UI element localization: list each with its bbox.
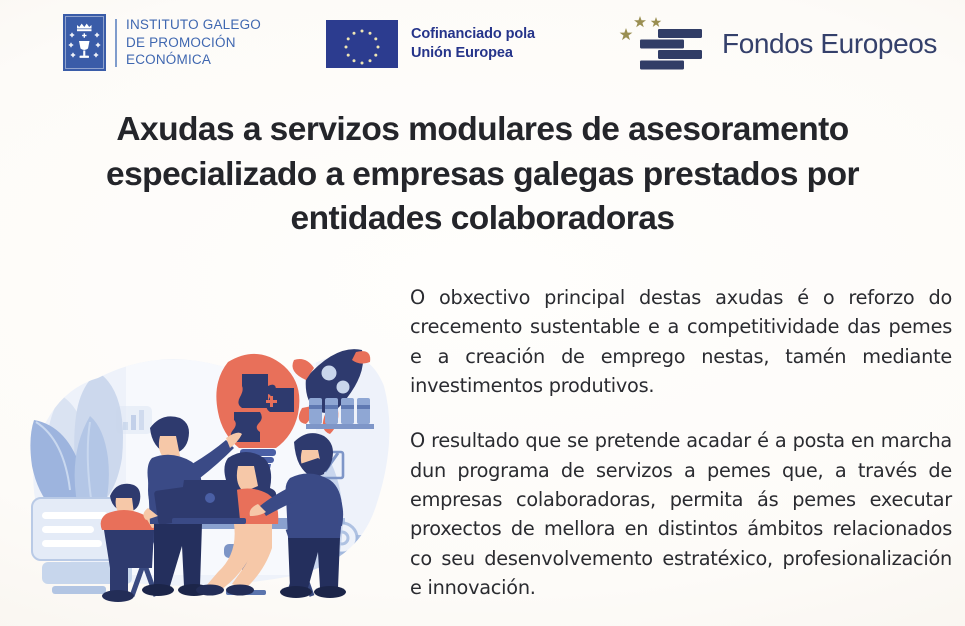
eu-flag-icon [326,20,398,68]
fondos-europeos-mark-icon [618,12,710,76]
page-title: Axudas a servizos modulares de asesorame… [30,108,935,242]
galicia-coat-of-arms-icon [63,14,106,71]
logo-european-union: Cofinanciado pola Unión Europea [326,20,535,68]
paragraph-objective: O obxectivo principal destas axudas é o … [410,283,952,400]
logo-bar: INSTITUTO GALEGO DE PROMOCIÓN ECONÓMICA [0,8,965,86]
body-copy: O obxectivo principal destas axudas é o … [410,283,952,602]
igape-label: INSTITUTO GALEGO DE PROMOCIÓN ECONÓMICA [126,16,261,68]
team-brainstorming-illustration [6,300,398,618]
eu-cofinancing-label: Cofinanciado pola Unión Europea [411,25,535,63]
logo-igape: INSTITUTO GALEGO DE PROMOCIÓN ECONÓMICA [63,14,261,71]
fondos-europeos-label: Fondos Europeos [722,28,937,60]
poster-page: INSTITUTO GALEGO DE PROMOCIÓN ECONÓMICA [0,0,965,626]
logo-divider [115,19,117,67]
logo-fondos-europeos: Fondos Europeos [618,12,937,76]
paragraph-result: O resultado que se pretende acadar é a p… [410,426,952,602]
